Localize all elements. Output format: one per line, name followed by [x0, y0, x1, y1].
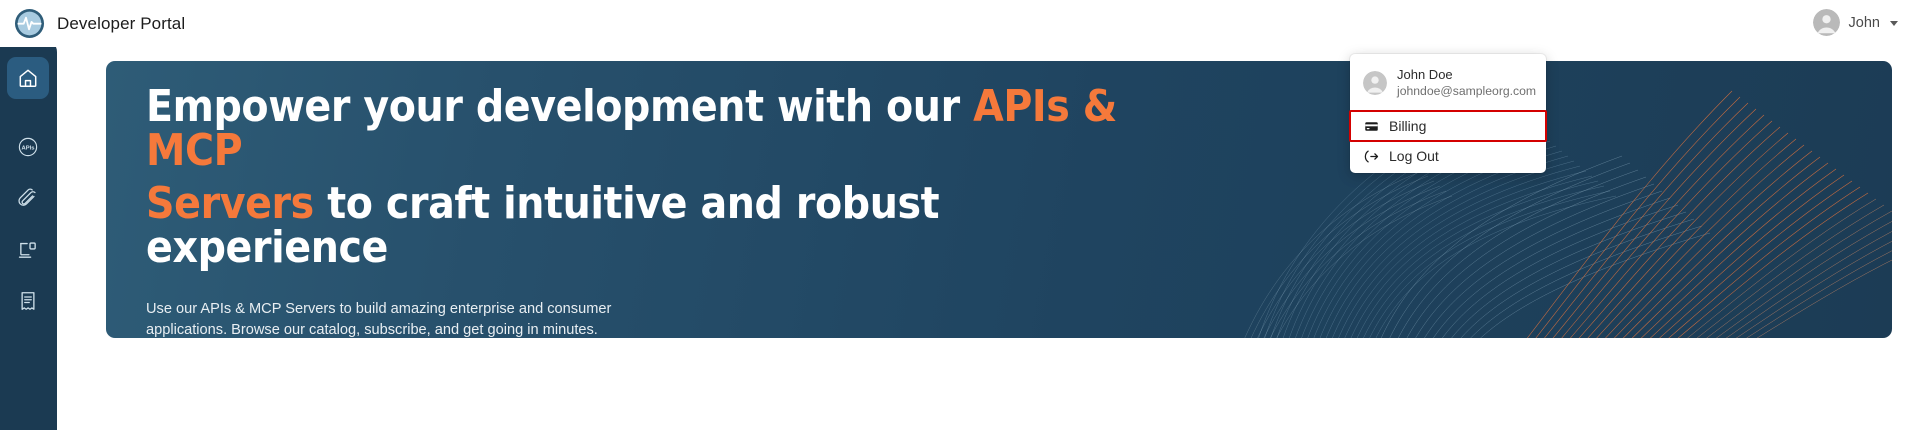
hero-heading: Empower your development with our APIs &…	[146, 85, 1146, 270]
home-icon	[17, 67, 39, 89]
profile-name: John Doe	[1397, 66, 1536, 83]
brand-title: Developer Portal	[57, 14, 185, 34]
profile-email: johndoe@sampleorg.com	[1397, 83, 1536, 99]
sidebar-item-documents[interactable]	[7, 280, 49, 322]
logout-icon	[1363, 148, 1379, 164]
sidebar-item-home[interactable]	[7, 57, 49, 99]
svg-text:APIs: APIs	[21, 145, 35, 151]
dropdown-item-logout[interactable]: Log Out	[1350, 141, 1546, 171]
brand[interactable]: Developer Portal	[14, 8, 185, 39]
user-name-label: John	[1849, 15, 1880, 31]
chevron-down-icon[interactable]	[1890, 21, 1898, 26]
sidebar-item-connections[interactable]	[7, 177, 49, 219]
sidebar-item-apis[interactable]: APIs	[7, 126, 49, 168]
hero-heading-part1: Empower your development with our	[146, 81, 973, 132]
hero-description: Use our APIs & MCP Servers to build amaz…	[146, 299, 646, 338]
credit-card-icon	[1363, 118, 1379, 134]
paperclip-icon	[17, 187, 39, 209]
sidebar-item-mcp-servers[interactable]	[7, 229, 49, 271]
document-icon	[17, 290, 39, 312]
hero-content: Empower your development with our APIs &…	[146, 85, 1146, 338]
dropdown-item-billing-label: Billing	[1389, 118, 1426, 134]
user-menu-trigger[interactable]: John	[1813, 9, 1898, 36]
user-dropdown-menu: John Doe johndoe@sampleorg.com Billing	[1350, 54, 1546, 173]
user-avatar-icon	[1363, 71, 1387, 95]
dropdown-profile: John Doe johndoe@sampleorg.com	[1350, 54, 1546, 110]
app-header: Developer Portal John	[0, 0, 1912, 47]
dropdown-item-billing[interactable]: Billing	[1350, 111, 1546, 141]
sidebar-nav: APIs	[0, 39, 57, 430]
pulse-circle-logo-icon	[14, 8, 45, 39]
user-avatar-icon	[1813, 9, 1840, 36]
dropdown-item-logout-label: Log Out	[1389, 148, 1439, 164]
app-root: Developer Portal John APIs	[0, 0, 1912, 430]
hero-banner: Empower your development with our APIs &…	[106, 61, 1892, 338]
mcp-server-icon	[17, 239, 39, 261]
apis-circle-icon: APIs	[17, 136, 39, 158]
